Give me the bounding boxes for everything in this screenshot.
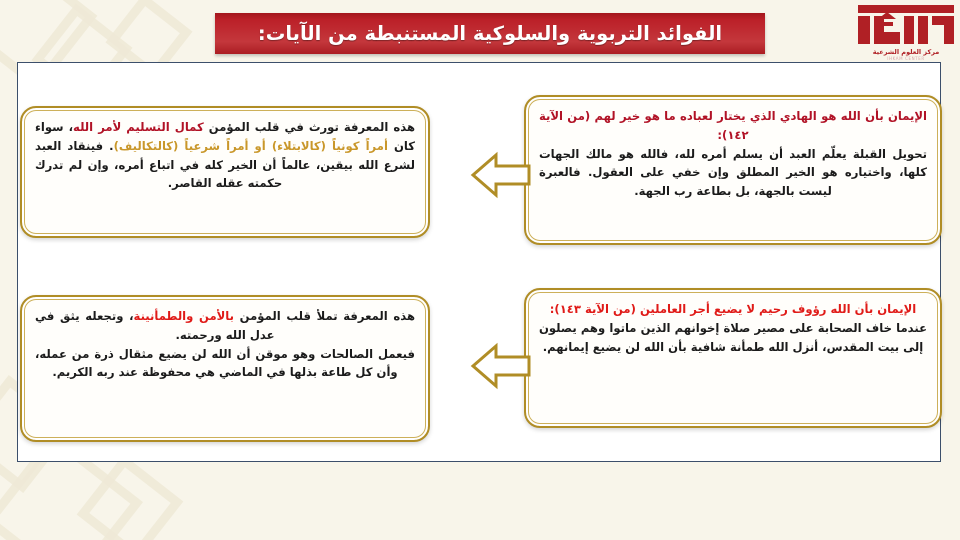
callout-body-text-2: فيعمل الصالحات وهو موقن أن الله لن يضيع …: [35, 345, 415, 383]
callout-highlight-red: كمال التسليم لأمر الله: [73, 120, 204, 134]
callout-bottom-left: هذه المعرفة تملأ قلب المؤمن بالأمن والطم…: [20, 295, 430, 442]
callout-lead-text: الإيمان بأن الله هو الهادي الذي يختار لع…: [539, 107, 927, 145]
slide-title-banner: الفوائد التربوية والسلوكية المستنبطة من …: [215, 13, 765, 54]
arrow-left-icon: [470, 337, 532, 395]
page-title: الفوائد التربوية والسلوكية المستنبطة من …: [258, 22, 722, 45]
callout-lead-text: الإيمان بأن الله رؤوف رحيم لا يضيع أجر ا…: [539, 300, 927, 319]
ihkam-wordmark-icon: [856, 2, 956, 47]
callout-text-part-1: هذه المعرفة تملأ قلب المؤمن: [234, 309, 415, 323]
callout-body-text: عندما خاف الصحابة على مصير صلاة إخوانهم …: [539, 319, 927, 357]
callout-highlight-red: بالأمن والطمأنينة: [134, 309, 234, 323]
callout-body-text: هذه المعرفة تورث في قلب المؤمن كمال التس…: [35, 118, 415, 193]
arrow-left-icon: [470, 146, 532, 204]
callout-body-text: تحويل القبلة يعلّم العبد أن يسلم أمره لل…: [539, 145, 927, 201]
callout-top-left: هذه المعرفة تورث في قلب المؤمن كمال التس…: [20, 106, 430, 238]
brand-logo: مركز العلوم الشرعية IHKAM CENTER: [856, 2, 956, 64]
callout-bottom-right: الإيمان بأن الله رؤوف رحيم لا يضيع أجر ا…: [524, 288, 942, 428]
callout-body-text: هذه المعرفة تملأ قلب المؤمن بالأمن والطم…: [35, 307, 415, 345]
callout-text-part-1: هذه المعرفة تورث في قلب المؤمن: [204, 120, 415, 134]
callout-top-right: الإيمان بأن الله هو الهادي الذي يختار لع…: [524, 95, 942, 245]
logo-subtitle: مركز العلوم الشرعية: [856, 48, 956, 56]
logo-subtitle-latin: IHKAM CENTER: [856, 56, 956, 61]
callout-highlight-red: الإيمان بأن الله هو الهادي الذي يختار لع…: [539, 109, 927, 142]
callout-highlight-red: الإيمان بأن الله رؤوف رحيم لا يضيع أجر ا…: [550, 302, 916, 316]
callout-highlight-gold: أمراً كونياً (كالابتلاء) أو أمراً شرعياً…: [114, 139, 388, 153]
